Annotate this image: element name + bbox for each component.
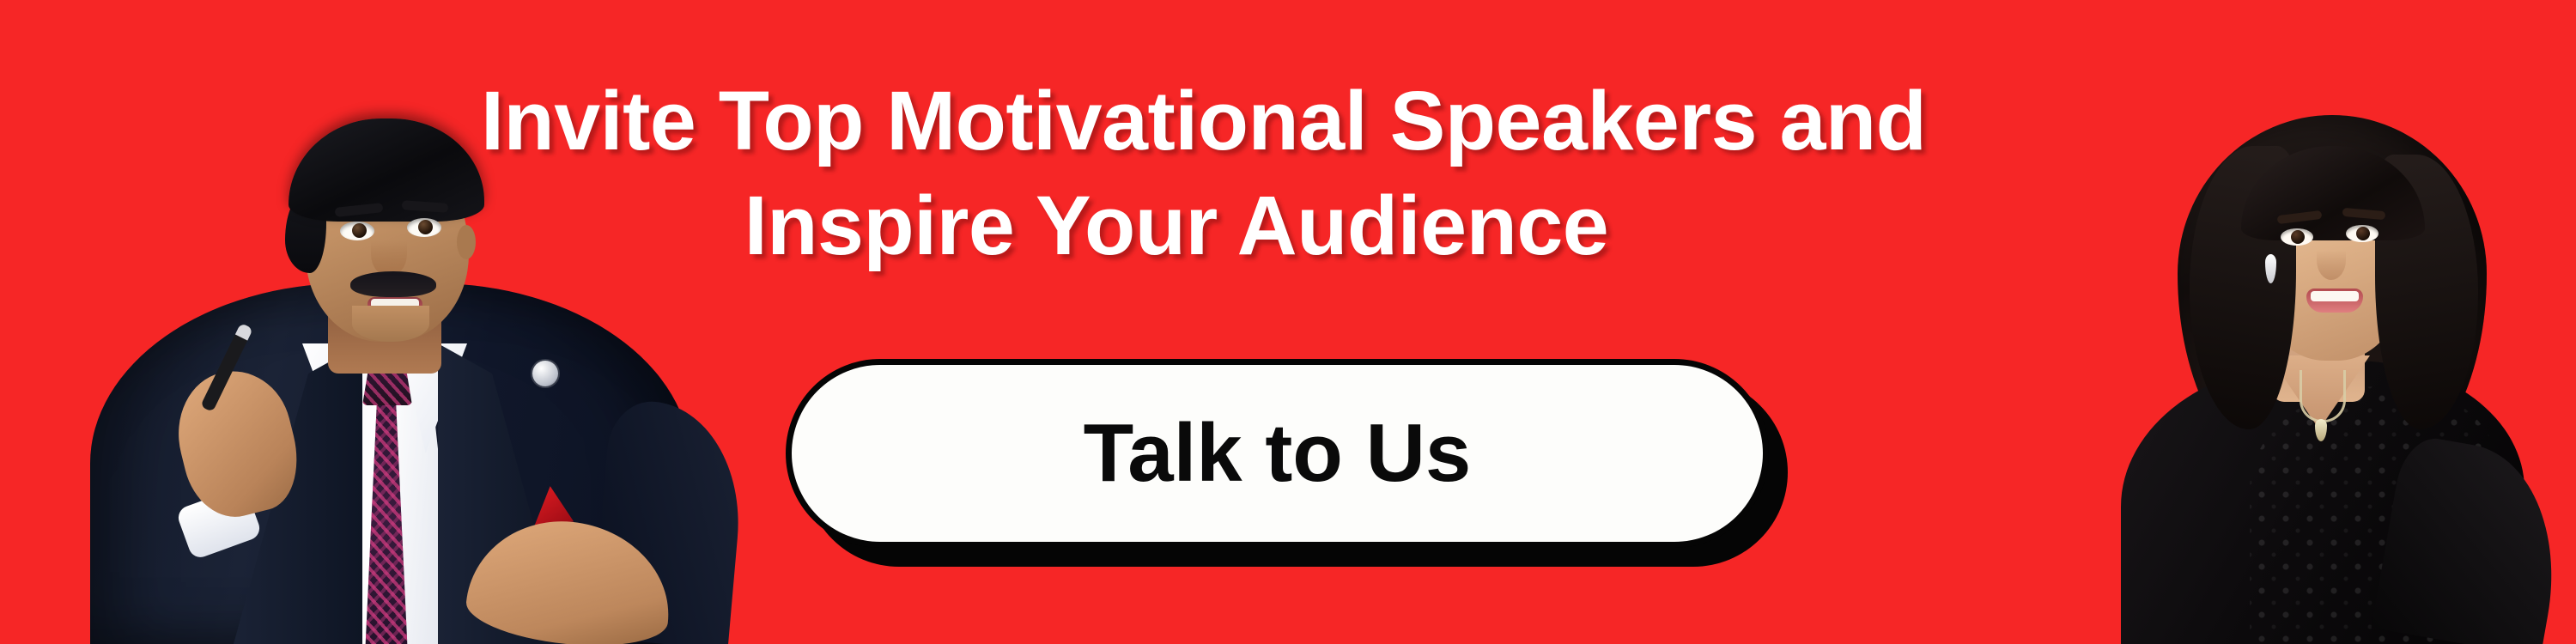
male-moustache — [350, 271, 436, 297]
male-lapel-pin — [532, 361, 558, 386]
promo-banner: Invite Top Motivational Speakers and Ins… — [0, 0, 2576, 644]
headline-line-1: Invite Top Motivational Speakers and — [481, 69, 1872, 173]
male-chin — [352, 306, 429, 342]
talk-to-us-label: Talk to Us — [1084, 412, 1472, 495]
female-mouth — [2306, 289, 2363, 313]
male-nose — [371, 232, 407, 276]
talk-to-us-button[interactable]: Talk to Us — [786, 359, 1769, 548]
necklace-chain — [2300, 370, 2346, 422]
female-speaker-photo — [2069, 26, 2550, 644]
banner-headline: Invite Top Motivational Speakers and Ins… — [481, 69, 1872, 278]
male-ear-right — [457, 225, 476, 259]
headline-line-2: Inspire Your Audience — [481, 173, 1872, 278]
female-pupil-left — [2291, 230, 2305, 244]
female-nose — [2317, 240, 2346, 280]
female-teeth — [2311, 291, 2359, 301]
male-hair — [289, 118, 484, 222]
male-pupil-left — [352, 223, 367, 238]
female-arm — [2372, 433, 2575, 644]
male-pupil-right — [418, 220, 433, 234]
female-pupil-right — [2356, 227, 2370, 240]
